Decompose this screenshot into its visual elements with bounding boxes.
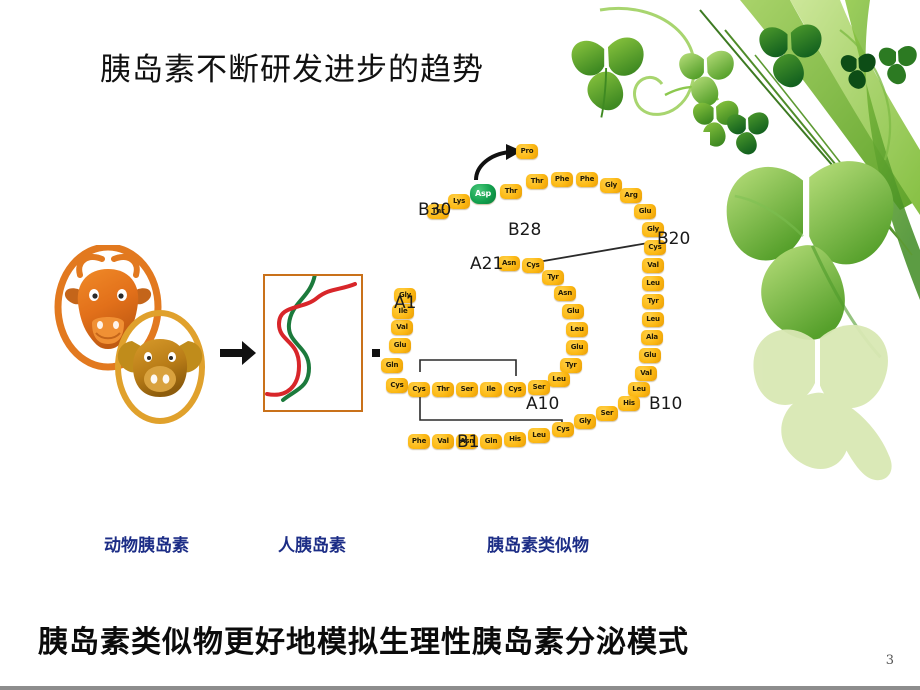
residue-lys-2: Lys: [448, 194, 470, 209]
residue-ala-17: Ala: [641, 330, 663, 345]
clover-decoration-right: [720, 320, 920, 540]
residue-leu-14: Leu: [642, 276, 664, 291]
position-label-b28: B28: [508, 220, 541, 240]
bottom-rule: [0, 686, 920, 690]
residue-phe-30: Phe: [408, 434, 430, 449]
human-insulin-structure-box: [263, 274, 363, 412]
residue-ser-40: Ser: [528, 380, 550, 395]
residue-leu-25: Leu: [528, 428, 550, 443]
page-number: 3: [886, 653, 894, 668]
residue-cys-46: Cys: [386, 378, 408, 393]
stage-label-animal-insulin: 动物胰岛素: [104, 531, 189, 556]
residue-gly-8: Gly: [600, 178, 622, 193]
residue-cys-24: Cys: [552, 422, 574, 437]
residue-gln-47: Gln: [381, 358, 403, 373]
position-label-a1: A1: [394, 293, 416, 313]
residue-phe-6: Phe: [551, 172, 573, 187]
position-label-b30: B30: [418, 200, 451, 220]
residue-arg-9: Arg: [620, 188, 642, 203]
residue-gln-27: Gln: [480, 434, 502, 449]
position-label-b10: B10: [649, 394, 682, 414]
residue-asn-34: Asn: [554, 286, 576, 301]
residue-val-49: Val: [391, 320, 413, 335]
residue-cys-32: Cys: [522, 258, 544, 273]
residue-val-29: Val: [432, 434, 454, 449]
residue-val-13: Val: [642, 258, 664, 273]
residue-ser-22: Ser: [596, 406, 618, 421]
residue-thr-5: Thr: [526, 174, 548, 189]
residue-pro-0: Pro: [516, 144, 538, 159]
slide-caption: 胰岛素类似物更好地模拟生理性胰岛素分泌模式: [38, 617, 689, 661]
animal-insulin-illustration: [50, 245, 230, 435]
residue-gly-23: Gly: [574, 414, 596, 429]
residue-his-21: His: [618, 396, 640, 411]
residue-val-19: Val: [635, 366, 657, 381]
residue-asp-3: Asp: [470, 184, 496, 204]
residue-cys-41: Cys: [504, 382, 526, 397]
position-label-b1: B1: [457, 432, 479, 452]
residue-glu-48: Glu: [389, 338, 411, 353]
residue-his-26: His: [504, 432, 526, 447]
residue-cys-45: Cys: [408, 382, 430, 397]
residue-thr-4: Thr: [500, 184, 522, 199]
residue-glu-10: Glu: [634, 204, 656, 219]
position-label-b20: B20: [657, 229, 690, 249]
residue-glu-18: Glu: [639, 348, 661, 363]
slide-title: 胰岛素不断研发进步的趋势: [100, 44, 484, 89]
residue-leu-39: Leu: [548, 372, 570, 387]
residue-leu-36: Leu: [566, 322, 588, 337]
residue-glu-37: Glu: [566, 340, 588, 355]
slide-canvas: 胰岛素不断研发进步的趋势: [0, 0, 920, 690]
residue-leu-16: Leu: [642, 312, 664, 327]
residue-glu-35: Glu: [562, 304, 584, 319]
right-arrow-icon: [216, 332, 258, 374]
residue-leu-20: Leu: [628, 382, 650, 397]
stage-label-human-insulin: 人胰岛素: [278, 531, 346, 556]
position-label-a10: A10: [526, 394, 559, 414]
residue-tyr-15: Tyr: [642, 294, 664, 309]
residue-tyr-38: Tyr: [560, 358, 582, 373]
residue-tyr-33: Tyr: [542, 270, 564, 285]
residue-ile-42: Ile: [480, 382, 502, 397]
insulin-analog-diagram: ProThrLysAspThrThrPhePheGlyArgGluGlyCysV…: [380, 132, 710, 472]
residue-thr-44: Thr: [432, 382, 454, 397]
residue-phe-7: Phe: [576, 172, 598, 187]
position-label-a21: A21: [470, 254, 503, 274]
stage-label-insulin-analog: 胰岛素类似物: [487, 531, 589, 556]
residue-ser-43: Ser: [456, 382, 478, 397]
